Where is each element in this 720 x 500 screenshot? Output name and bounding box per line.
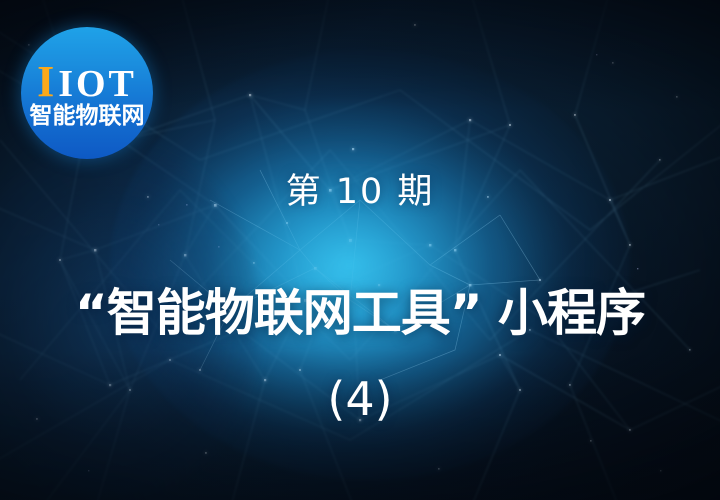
logo-chinese-name: 智能物联网 [30, 104, 145, 128]
slide-canvas: I IOT 智能物联网 第 10 期 “智能物联网工具” 小程序 (4) [0, 0, 720, 500]
iiot-logo-badge: I IOT 智能物联网 [21, 27, 153, 159]
part-index-label: (4) [0, 372, 720, 426]
logo-acronym: IOT [58, 67, 137, 101]
logo-initial-letter: I [37, 62, 58, 102]
page-title: “智能物联网工具” 小程序 [0, 287, 720, 340]
logo-wordmark-row: I IOT [37, 62, 137, 102]
issue-number-label: 第 10 期 [0, 163, 720, 214]
